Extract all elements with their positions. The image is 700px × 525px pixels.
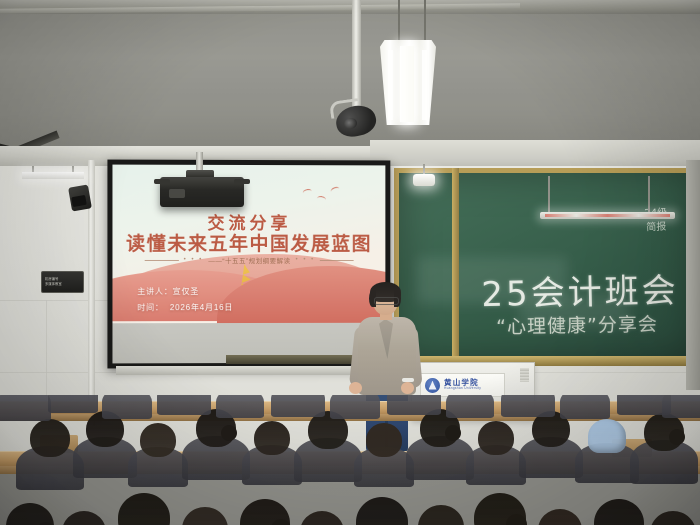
audience-member-head	[478, 421, 514, 455]
slide-subtitle: ——“十五五”规划纲要解读	[208, 255, 290, 265]
audience-member-shoulders	[0, 395, 51, 421]
presenter-hand-right	[401, 382, 414, 394]
slide-speaker-name: 宣仅圣	[173, 287, 200, 296]
audience-member-shoulders	[662, 395, 700, 418]
bird-icon-3	[330, 186, 340, 195]
bird-icon-2	[316, 195, 326, 202]
blackboard-strip-lamp-rod-right	[648, 176, 650, 214]
wall-fluorescent-icon	[22, 172, 84, 179]
slide-date-label: 时间：	[137, 303, 164, 312]
audience-member-shoulders	[102, 395, 152, 419]
institution-name: 黄山学院 Huangshan University	[444, 379, 481, 391]
slide-speaker-row: 主讲人：宣仅圣	[137, 284, 233, 301]
blackboard-writing-area: 25会计班会 “心理健康”分享会 24级 简报	[399, 173, 695, 358]
blackboard-divider	[452, 168, 459, 363]
lecture-hall-photo: 机房编号 多媒体教室 25会计班会 “心理健康”分享会 24级 简报	[0, 0, 700, 525]
wall-plaque: 机房编号 多媒体教室	[41, 271, 84, 293]
projected-slide: 交流分享 读懂未来五年中国发展蓝图 • • • ——“十五五”规划纲要解读 • …	[112, 165, 385, 364]
bird-icon-1	[302, 188, 312, 196]
right-wall-jamb	[686, 160, 700, 390]
presenter-hand-left	[349, 382, 362, 394]
audience-member-shoulders	[157, 395, 211, 415]
slide-subtitle-row: • • • ——“十五五”规划纲要解读 • • •	[112, 255, 385, 265]
audience-member-hair-bun	[221, 425, 237, 441]
audience-member-head	[118, 493, 170, 525]
blackboard: 25会计班会 “心理健康”分享会 24级 简报	[394, 168, 700, 363]
audience-member-shoulders	[446, 395, 493, 418]
audience-member-hair-bun	[669, 429, 685, 445]
lamp-tube-right	[422, 50, 427, 120]
subtitle-dots-left: • • •	[184, 257, 204, 263]
audience-member-head	[538, 509, 582, 525]
audience-member-head	[182, 507, 228, 525]
ceiling-projector-icon	[160, 177, 244, 207]
audience-member-head	[650, 511, 696, 525]
slide-speaker-label: 主讲人：	[137, 287, 172, 296]
audience-member-head	[366, 423, 402, 457]
institution-name-en: Huangshan University	[444, 387, 481, 391]
blackboard-lamp-icon	[413, 174, 435, 186]
audience-member-head	[356, 497, 408, 525]
audience-member-head	[62, 511, 106, 525]
slide-birds-icon	[299, 187, 359, 211]
presenter-glasses-icon	[374, 297, 399, 305]
blackboard-corner-line-2: 简报	[629, 220, 683, 235]
wall-plaque-line-2: 多媒体教室	[45, 282, 80, 287]
blackboard-corner-note: 24级 简报	[629, 206, 684, 235]
blackboard-strip-lamp-tube	[545, 214, 670, 217]
audience-seating	[0, 395, 700, 525]
audience-member-cap-icon	[588, 419, 626, 453]
audience-member-shoulders	[501, 395, 555, 417]
projector-bracket-right	[234, 179, 250, 184]
lamp-tube-center	[400, 46, 414, 122]
audience-member-head	[140, 423, 176, 457]
blackboard-sub-text: “心理健康”分享会	[457, 309, 697, 340]
lectern-vent	[520, 368, 529, 382]
audience-member-shoulders	[387, 395, 441, 415]
lamp-hanger-right	[424, 0, 426, 44]
projection-screen: 交流分享 读懂未来五年中国发展蓝图 • • • ——“十五五”规划纲要解读 • …	[107, 160, 390, 369]
blackboard-main-text: 25会计班会	[465, 263, 696, 317]
slide-date-value: 2026年4月16日	[170, 303, 233, 312]
subtitle-rule-right	[320, 260, 354, 261]
audience-member-shoulders	[216, 395, 263, 418]
audience-member-head	[300, 511, 344, 525]
university-crest-icon	[425, 378, 440, 393]
subtitle-rule-left	[144, 260, 178, 261]
presenter-wristwatch-icon	[402, 378, 414, 382]
audience-member-shoulders	[560, 395, 610, 419]
audience-member-head	[254, 421, 290, 455]
fluorescent-ceiling-lamp-icon	[380, 40, 436, 125]
audience-member-shoulders	[48, 395, 98, 413]
projector-mount-rod	[196, 152, 203, 172]
audience-member-hair-bun	[445, 425, 461, 441]
audience-member-head	[418, 505, 464, 525]
slide-title-line-2: 读懂未来五年中国发展蓝图	[112, 229, 385, 256]
audience-member-head	[30, 419, 70, 457]
lamp-tube-left	[388, 50, 393, 120]
audience-member-head	[594, 499, 644, 525]
audience-member-shoulders	[330, 395, 380, 419]
subtitle-dots-right: • • •	[296, 257, 316, 263]
audience-heads	[0, 395, 700, 525]
slide-date-row: 时间： 2026年4月16日	[137, 300, 233, 317]
slide-metadata: 主讲人：宣仅圣 时间： 2026年4月16日	[137, 284, 233, 317]
lamp-hanger-left	[398, 0, 400, 44]
projector-lens-icon	[169, 189, 185, 198]
institution-nameplate: 黄山学院 Huangshan University	[420, 373, 505, 397]
projector-bracket-left	[154, 179, 170, 184]
audience-member-shoulders	[271, 395, 325, 417]
blackboard-strip-lamp-rod-left	[548, 176, 550, 214]
